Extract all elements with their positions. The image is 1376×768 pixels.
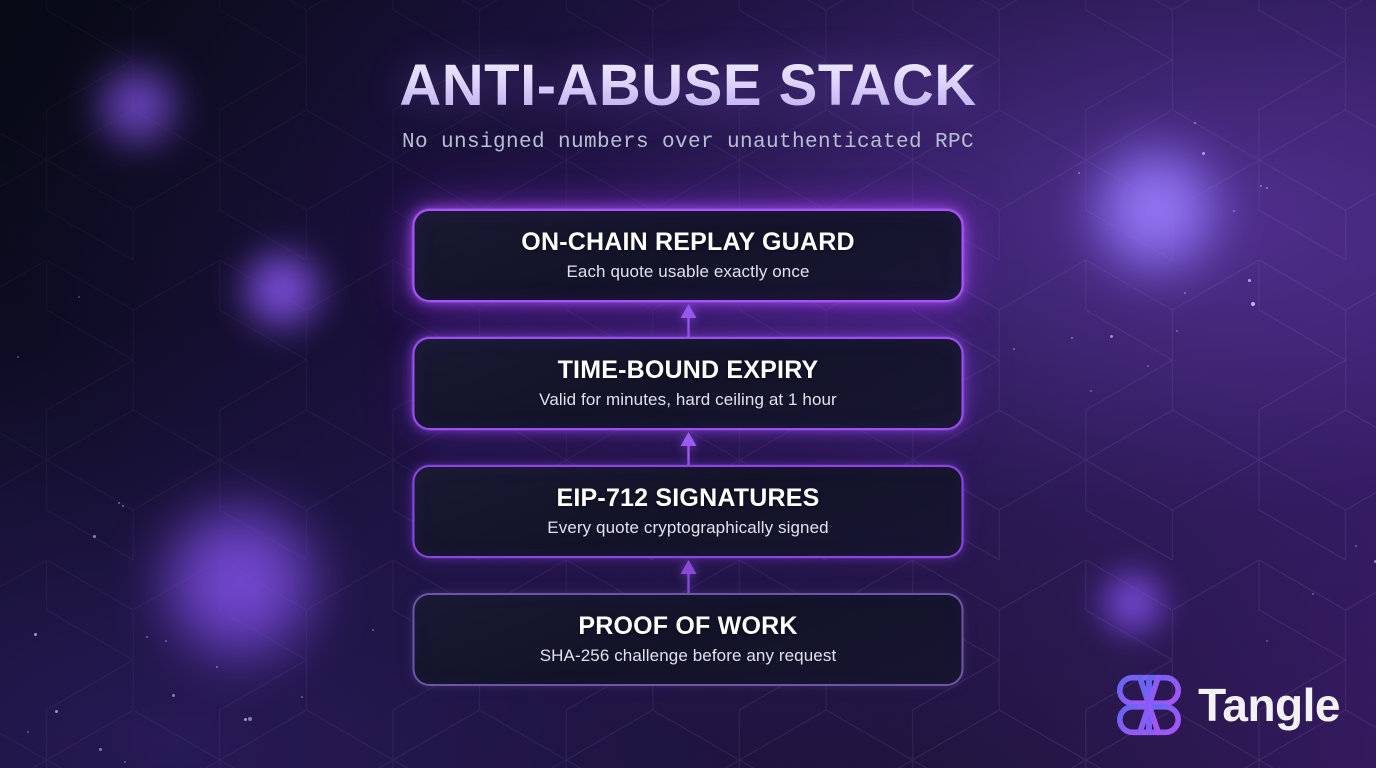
- connector-arrow-up: [671, 302, 705, 337]
- header: ANTI-ABUSE STACK No unsigned numbers ove…: [0, 56, 1376, 154]
- stack-card-title: PROOF OF WORK: [578, 613, 797, 641]
- slide-canvas: ANTI-ABUSE STACK No unsigned numbers ove…: [0, 0, 1376, 768]
- stack-card-proof-of-work[interactable]: PROOF OF WORK SHA-256 challenge before a…: [413, 593, 964, 686]
- connector-arrow-up: [671, 558, 705, 593]
- anti-abuse-stack: ON-CHAIN REPLAY GUARD Each quote usable …: [413, 209, 964, 686]
- tangle-logo-icon: [1116, 674, 1182, 736]
- stack-card-title: TIME-BOUND EXPIRY: [558, 357, 819, 385]
- stack-card-subtitle: Each quote usable exactly once: [566, 263, 809, 282]
- stack-card-subtitle: SHA-256 challenge before any request: [540, 647, 837, 666]
- stack-card-title: ON-CHAIN REPLAY GUARD: [521, 229, 854, 257]
- stack-card-replay-guard[interactable]: ON-CHAIN REPLAY GUARD Each quote usable …: [413, 209, 964, 302]
- glow-orb: [1082, 136, 1230, 284]
- brand-lockup: Tangle: [1116, 674, 1340, 736]
- stack-card-subtitle: Every quote cryptographically signed: [547, 519, 828, 538]
- page-subtitle: No unsigned numbers over unauthenticated…: [0, 131, 1376, 154]
- glow-orb: [1096, 566, 1170, 640]
- stack-card-eip-712-signatures[interactable]: EIP-712 SIGNATURES Every quote cryptogra…: [413, 465, 964, 558]
- stack-card-subtitle: Valid for minutes, hard ceiling at 1 hou…: [539, 391, 837, 410]
- brand-name: Tangle: [1198, 682, 1340, 728]
- glow-orb: [236, 244, 328, 336]
- glow-orb: [150, 492, 330, 672]
- stack-card-title: EIP-712 SIGNATURES: [557, 485, 820, 513]
- connector-arrow-up: [671, 430, 705, 465]
- stack-card-time-bound-expiry[interactable]: TIME-BOUND EXPIRY Valid for minutes, har…: [413, 337, 964, 430]
- page-title: ANTI-ABUSE STACK: [0, 56, 1376, 117]
